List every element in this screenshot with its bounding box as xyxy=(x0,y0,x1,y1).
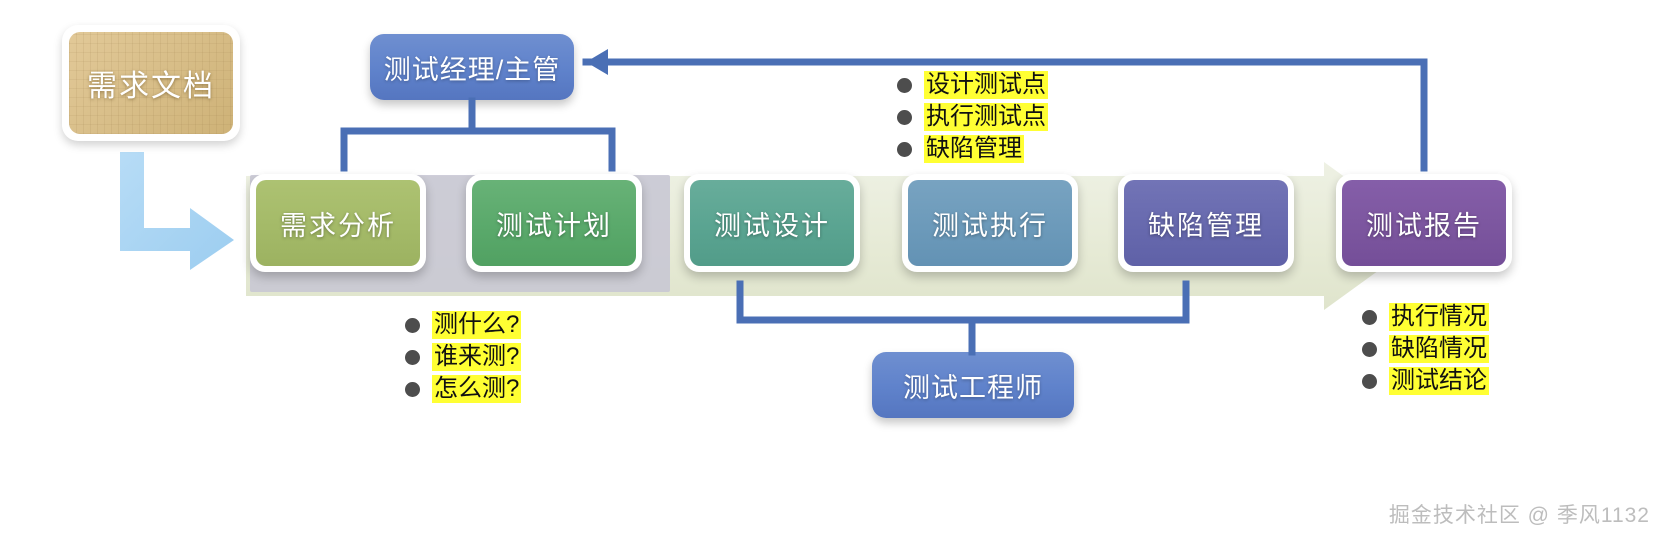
stage-label-test-report: 测试报告 xyxy=(1366,204,1482,243)
role-box-test-engineer[interactable]: 测试工程师 xyxy=(872,352,1074,418)
stage-box-test-design[interactable]: 测试设计 xyxy=(684,174,860,272)
diagram-canvas: 需求文档 测试经理/主管 测试工程师 需求分析 测试计划 测试设计 测试执行 缺… xyxy=(0,0,1668,543)
bullet-dot-icon xyxy=(897,142,912,157)
list-item: 执行情况 xyxy=(1362,302,1489,332)
list-item: 测什么? xyxy=(405,310,521,340)
note-text: 缺陷管理 xyxy=(924,135,1024,163)
bullet-dot-icon xyxy=(897,78,912,93)
list-item: 谁来测? xyxy=(405,342,521,372)
note-text: 设计测试点 xyxy=(924,71,1048,99)
list-item: 怎么测? xyxy=(405,374,521,404)
watermark: 掘金技术社区 @ 季风1132 xyxy=(1389,499,1650,529)
stage-label-test-plan: 测试计划 xyxy=(496,204,612,243)
stage-box-test-plan[interactable]: 测试计划 xyxy=(466,174,642,272)
bullet-dot-icon xyxy=(1362,310,1377,325)
list-item: 设计测试点 xyxy=(897,70,1048,100)
list-item: 测试结论 xyxy=(1362,366,1489,396)
note-text: 执行情况 xyxy=(1389,303,1489,331)
requirement-to-flow-arrow xyxy=(118,150,236,270)
stage-box-test-report[interactable]: 测试报告 xyxy=(1336,174,1512,272)
bullet-dot-icon xyxy=(405,318,420,333)
stage-label-test-design: 测试设计 xyxy=(714,204,830,243)
stage-box-test-execution[interactable]: 测试执行 xyxy=(902,174,1078,272)
list-item: 执行测试点 xyxy=(897,102,1048,132)
note-list-engineer-tasks: 设计测试点 执行测试点 缺陷管理 xyxy=(897,70,1048,164)
stage-box-requirement-analysis[interactable]: 需求分析 xyxy=(250,174,426,272)
note-text: 怎么测? xyxy=(432,375,521,403)
note-text: 执行测试点 xyxy=(924,103,1048,131)
note-list-report-contents: 执行情况 缺陷情况 测试结论 xyxy=(1362,302,1489,396)
note-text: 谁来测? xyxy=(432,343,521,371)
requirement-document-card: 需求文档 xyxy=(62,25,240,141)
stage-label-defect-management: 缺陷管理 xyxy=(1148,204,1264,243)
bullet-dot-icon xyxy=(897,110,912,125)
bullet-dot-icon xyxy=(405,350,420,365)
bullet-dot-icon xyxy=(1362,374,1377,389)
note-text: 测试结论 xyxy=(1389,367,1489,395)
role-box-test-manager[interactable]: 测试经理/主管 xyxy=(370,34,574,100)
note-text: 缺陷情况 xyxy=(1389,335,1489,363)
role-label-test-manager: 测试经理/主管 xyxy=(384,48,561,87)
stage-box-defect-management[interactable]: 缺陷管理 xyxy=(1118,174,1294,272)
stage-label-test-execution: 测试执行 xyxy=(932,204,1048,243)
list-item: 缺陷管理 xyxy=(897,134,1048,164)
list-item: 缺陷情况 xyxy=(1362,334,1489,364)
note-text: 测什么? xyxy=(432,311,521,339)
role-label-test-engineer: 测试工程师 xyxy=(903,366,1043,405)
feedback-arrow-head xyxy=(586,49,608,75)
stage-label-requirement-analysis: 需求分析 xyxy=(280,204,396,243)
requirement-document-label: 需求文档 xyxy=(87,61,215,105)
note-list-plan-questions: 测什么? 谁来测? 怎么测? xyxy=(405,310,521,404)
bullet-dot-icon xyxy=(1362,342,1377,357)
bullet-dot-icon xyxy=(405,382,420,397)
